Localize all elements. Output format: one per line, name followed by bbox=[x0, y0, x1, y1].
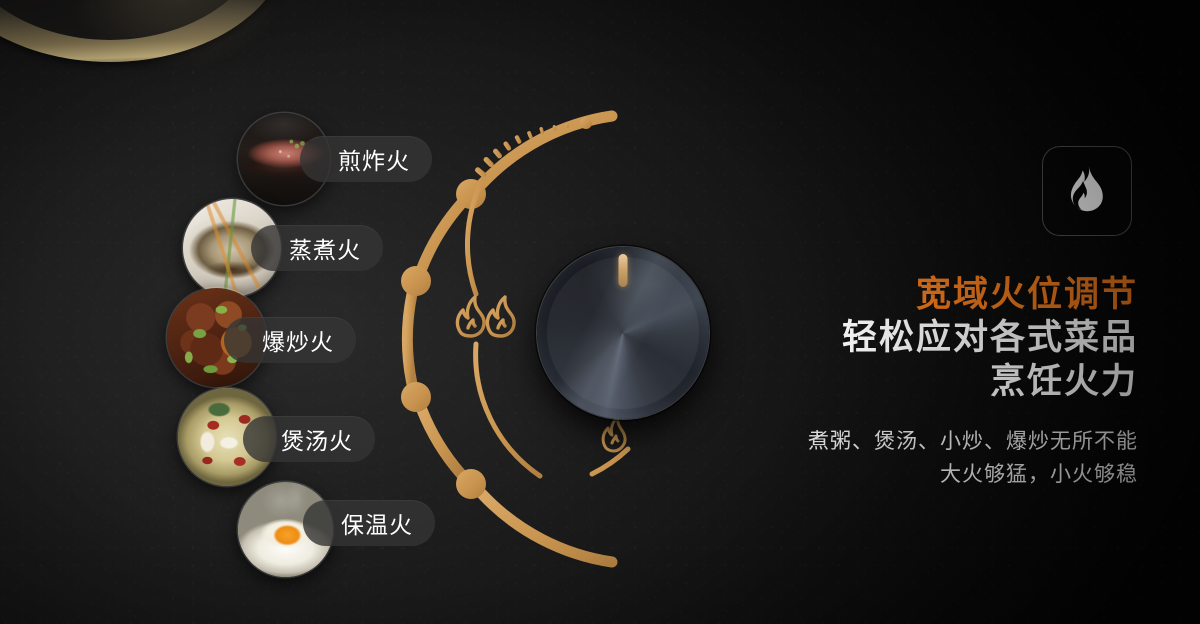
product-feature-banner: 煎炸火 蒸煮火 爆炒火 煲汤火 保温火 bbox=[0, 0, 1200, 624]
cooking-mode-label-0: 煎炸火 bbox=[300, 136, 432, 182]
cooking-mode-label-1: 蒸煮火 bbox=[251, 225, 383, 271]
mode-label-text: 蒸煮火 bbox=[289, 231, 361, 265]
mode-label-text: 煲汤火 bbox=[281, 422, 353, 456]
mode-label-text: 爆炒火 bbox=[262, 323, 334, 357]
subtitle-line-2: 烹饪火力 bbox=[578, 361, 1138, 403]
mode-label-text: 保温火 bbox=[341, 506, 413, 540]
subtitle-line-1: 轻松应对各式菜品 bbox=[578, 317, 1138, 359]
mode-label-text: 煎炸火 bbox=[338, 142, 410, 176]
description-line-2: 大火够猛，小火够稳 bbox=[578, 460, 1138, 490]
cooking-mode-label-2: 爆炒火 bbox=[224, 317, 356, 363]
cooking-mode-label-3: 煲汤火 bbox=[243, 416, 375, 462]
description-line-1: 煮粥、煲汤、小炒、爆炒无所不能 bbox=[578, 427, 1138, 457]
double-flame-icon bbox=[457, 297, 514, 336]
flame-badge bbox=[1042, 146, 1132, 236]
cooking-mode-label-4: 保温火 bbox=[303, 500, 435, 546]
flame-icon bbox=[1065, 165, 1109, 217]
page-title: 宽域火位调节 bbox=[578, 274, 1138, 315]
marketing-copy: 宽域火位调节 轻松应对各式菜品 烹饪火力 煮粥、煲汤、小炒、爆炒无所不能 大火够… bbox=[578, 274, 1138, 490]
